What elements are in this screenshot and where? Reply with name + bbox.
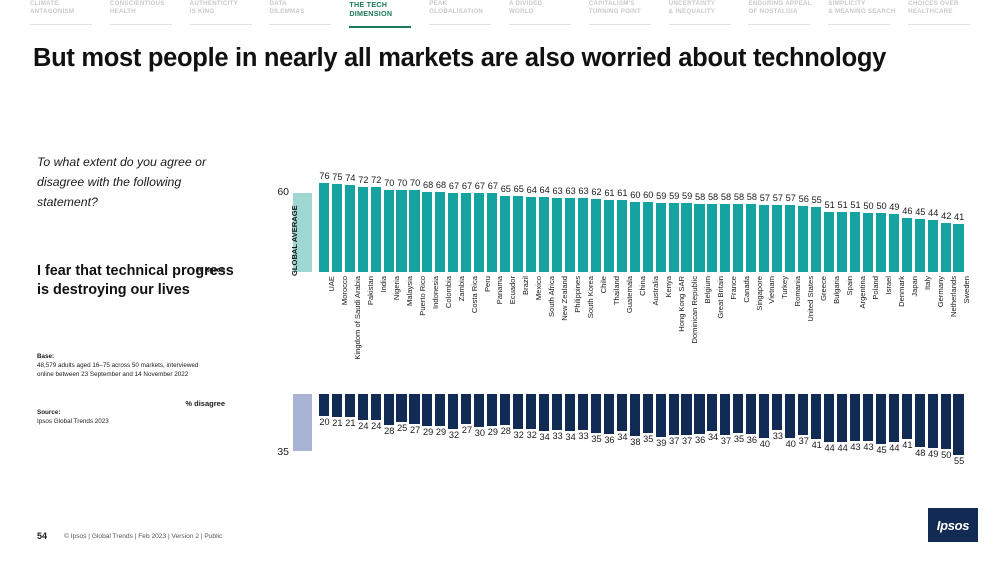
disagree-bar [345, 394, 355, 417]
global-average-disagree-value: 35 [265, 446, 289, 458]
nav-tab-label: UNCERTAINTY & INEQUALITY [669, 0, 741, 17]
disagree-bar [448, 394, 458, 429]
agree-bar [798, 206, 808, 272]
disagree-bar-cell: 34 [538, 394, 551, 460]
agree-bar-value: 50 [876, 201, 886, 212]
agree-bar-value: 42 [941, 211, 951, 222]
nav-tab-underline [110, 24, 172, 26]
disagree-bar-value: 29 [423, 427, 433, 438]
nav-tab-10[interactable]: SIMPLICITY & MEANING SEARCH [828, 0, 908, 34]
disagree-bar-cell: 44 [836, 394, 849, 460]
disagree-bar-cell: 34 [707, 394, 720, 460]
disagree-bar-cell: 34 [616, 394, 629, 460]
footer-text: © Ipsos | Global Trends | Feb 2023 | Ver… [64, 533, 222, 540]
country-axis-cell: UAE [318, 276, 331, 388]
agree-bar [345, 185, 355, 272]
nav-tab-2[interactable]: AUTHENTICITY IS KING [190, 0, 270, 34]
agree-bar-cell: 60 [629, 178, 642, 272]
agree-bar-cell: 42 [940, 178, 953, 272]
disagree-bar-value: 34 [617, 432, 627, 443]
nav-tab-9[interactable]: ENDURING APPEAL OF NOSTALGIA [748, 0, 828, 34]
disagree-bar-cell: 33 [577, 394, 590, 460]
disagree-bar-value: 21 [345, 418, 355, 429]
agree-bar [953, 224, 963, 272]
agree-bar [630, 202, 640, 273]
disagree-bar [552, 394, 562, 430]
disagree-bar-cell: 33 [551, 394, 564, 460]
disagree-bar-cell: 28 [383, 394, 396, 460]
nav-tab-underline [908, 24, 970, 26]
disagree-bar [694, 394, 704, 434]
agree-bar-value: 55 [812, 195, 822, 206]
disagree-bar [772, 394, 782, 430]
agree-bar-cell: 58 [707, 178, 720, 272]
agree-bar-cell: 67 [448, 178, 461, 272]
country-axis-cell: Hong Kong SAR [668, 276, 681, 388]
disagree-bar-cell: 44 [823, 394, 836, 460]
agree-bar-cell: 51 [836, 178, 849, 272]
country-axis-cell: Peru [473, 276, 486, 388]
base-label: Base: [37, 352, 215, 361]
disagree-bar-value: 35 [734, 434, 744, 445]
agree-bar [617, 200, 627, 272]
disagree-bar-cell: 40 [784, 394, 797, 460]
agree-bar-cell: 67 [473, 178, 486, 272]
agree-bar-value: 67 [462, 181, 472, 192]
agree-bar-value: 68 [436, 180, 446, 191]
nav-tab-label: CAPITALISM'S TURNING POINT [589, 0, 661, 17]
agree-bar [487, 193, 497, 272]
agree-bar-cell: 51 [823, 178, 836, 272]
disagree-bar-cell: 37 [797, 394, 810, 460]
agree-bar-cell: 70 [409, 178, 422, 272]
disagree-bar-cell: 25 [396, 394, 409, 460]
disagree-bar [396, 394, 406, 422]
disagree-bar [487, 394, 497, 426]
agree-bar [371, 187, 381, 272]
nav-tab-label: PEAK GLOBALISATION [429, 0, 501, 17]
agree-bar [358, 187, 368, 272]
disagree-bar [630, 394, 640, 436]
agree-bar-cell: 59 [681, 178, 694, 272]
country-axis-cell: New Zealand [551, 276, 564, 388]
country-axis-cell: Mexico [525, 276, 538, 388]
country-axis-cell: Guatemala [616, 276, 629, 388]
agree-bar [733, 204, 743, 272]
country-axis-cell: Brazil [512, 276, 525, 388]
disagree-bar-value: 37 [721, 436, 731, 447]
disagree-bar [513, 394, 523, 429]
agree-bar-value: 68 [423, 180, 433, 191]
agree-bar-cell: 72 [370, 178, 383, 272]
disagree-bar-cell: 43 [849, 394, 862, 460]
agree-bar-value: 74 [345, 173, 355, 184]
country-axis-cell: Australia [642, 276, 655, 388]
agree-bar-value: 46 [902, 206, 912, 217]
agree-bar [552, 198, 562, 272]
country-axis-cell: Panama [486, 276, 499, 388]
agree-bar-cell: 44 [927, 178, 940, 272]
nav-tab-label: CLIMATE ANTAGONISM [30, 0, 102, 17]
disagree-bar-cell: 29 [422, 394, 435, 460]
disagree-bar [319, 394, 329, 416]
country-axis-cell: Denmark [888, 276, 901, 388]
nav-tab-label: CHOICES OVER HEALTHCARE [908, 0, 980, 17]
disagree-bar-cell: 36 [603, 394, 616, 460]
disagree-bar-value: 35 [591, 434, 601, 445]
agree-bar-cell: 57 [771, 178, 784, 272]
disagree-bar-cell: 28 [499, 394, 512, 460]
country-axis-cell: Thailand [603, 276, 616, 388]
global-average-agree-value: 60 [265, 186, 289, 198]
disagree-bar-value: 36 [695, 435, 705, 446]
agree-bar-value: 63 [565, 186, 575, 197]
disagree-bar [358, 394, 368, 420]
agree-bar [759, 205, 769, 272]
nav-tab-label: AUTHENTICITY IS KING [190, 0, 262, 17]
agree-bar-value: 65 [514, 184, 524, 195]
agree-bar-value: 67 [488, 181, 498, 192]
disagree-bar-chart: 2021212424282527292932273029283232343334… [318, 394, 966, 460]
country-axis-cell: Morocco [331, 276, 344, 388]
disagree-bar-cell: 43 [862, 394, 875, 460]
country-axis-cell: France [720, 276, 733, 388]
disagree-bar [422, 394, 432, 426]
disagree-bar-value: 27 [462, 425, 472, 436]
agree-bar [746, 204, 756, 272]
agree-bar [707, 204, 717, 272]
disagree-bar [565, 394, 575, 431]
disagree-bar-value: 24 [371, 421, 381, 432]
disagree-bar-cell: 33 [771, 394, 784, 460]
disagree-bar [746, 394, 756, 434]
disagree-bar [591, 394, 601, 433]
agree-bar-value: 61 [604, 188, 614, 199]
country-axis-cell: Singapore [745, 276, 758, 388]
nav-tab-label: SIMPLICITY & MEANING SEARCH [828, 0, 900, 17]
disagree-bar [539, 394, 549, 431]
agree-bar-value: 67 [475, 181, 485, 192]
country-axis-cell: Netherlands [940, 276, 953, 388]
disagree-bar-value: 32 [527, 430, 537, 441]
base-note: Base: 48,579 adults aged 16–75 across 50… [37, 352, 215, 379]
agree-bar [785, 205, 795, 272]
disagree-bar [669, 394, 679, 435]
agree-bar-cell: 57 [758, 178, 771, 272]
disagree-bar [953, 394, 963, 455]
agree-bar-cell: 65 [512, 178, 525, 272]
agree-bar-cell: 63 [564, 178, 577, 272]
agree-bar-cell: 62 [590, 178, 603, 272]
agree-bar-cell: 68 [422, 178, 435, 272]
disagree-bar [332, 394, 342, 417]
disagree-bar-cell: 35 [590, 394, 603, 460]
disagree-bar [941, 394, 951, 449]
nav-tab-5[interactable]: PEAK GLOBALISATION [429, 0, 509, 34]
country-axis-cell: Spain [836, 276, 849, 388]
logo-text: Ipsos [937, 518, 969, 533]
agree-bar [643, 202, 653, 273]
disagree-bar [643, 394, 653, 433]
country-axis-cell: Bulgaria [823, 276, 836, 388]
agree-bar [902, 218, 912, 272]
country-axis-cell: Ecuador [499, 276, 512, 388]
country-axis-cell: Argentina [849, 276, 862, 388]
agree-bar-value: 57 [760, 193, 770, 204]
disagree-bar [526, 394, 536, 429]
nav-tab-6[interactable]: A DIVIDED WORLD [509, 0, 589, 34]
disagree-bar-value: 37 [799, 436, 809, 447]
disagree-bar-value: 21 [332, 418, 342, 429]
agree-bar-value: 59 [669, 191, 679, 202]
disagree-bar-cell: 35 [733, 394, 746, 460]
agree-bar-value: 58 [747, 192, 757, 203]
disagree-bar-value: 37 [669, 436, 679, 447]
agree-bar-cell: 46 [901, 178, 914, 272]
disagree-bar-cell: 39 [655, 394, 668, 460]
agree-bar-value: 57 [773, 193, 783, 204]
country-axis-cell: Pakistan [357, 276, 370, 388]
agree-bar-cell: 58 [720, 178, 733, 272]
nav-tab-label: CONSCIENTIOUS HEALTH [110, 0, 182, 17]
disagree-bar-value: 24 [358, 421, 368, 432]
country-axis-cell: Zambia [448, 276, 461, 388]
disagree-bar [681, 394, 691, 435]
country-axis-cell: Kenya [655, 276, 668, 388]
nav-tab-underline [349, 26, 411, 28]
disagree-bar-cell: 36 [745, 394, 758, 460]
agree-bar [656, 203, 666, 272]
top-navigation[interactable]: CLIMATE ANTAGONISMCONSCIENTIOUS HEALTHAU… [0, 0, 1000, 34]
disagree-bar-cell: 44 [888, 394, 901, 460]
disagree-bar-value: 55 [954, 456, 964, 467]
agree-bar-cell: 75 [331, 178, 344, 272]
agree-bar [396, 190, 406, 272]
disagree-bar [656, 394, 666, 437]
country-axis-cell: Philippines [564, 276, 577, 388]
disagree-bar-value: 29 [436, 427, 446, 438]
agree-bar-value: 72 [358, 175, 368, 186]
disagree-bar-value: 30 [475, 428, 485, 439]
agree-bar-value: 41 [954, 212, 964, 223]
agree-bar [409, 190, 419, 272]
agree-bar-value: 75 [332, 172, 342, 183]
disagree-bar-value: 40 [760, 439, 770, 450]
disagree-bar-value: 34 [565, 432, 575, 443]
agree-bar [694, 204, 704, 272]
agree-bar [669, 203, 679, 272]
country-axis-cell: China [629, 276, 642, 388]
agree-bar-cell: 74 [344, 178, 357, 272]
agree-bar-value: 49 [889, 202, 899, 213]
disagree-bar-value: 34 [540, 432, 550, 443]
nav-tab-11[interactable]: CHOICES OVER HEALTHCARE [908, 0, 988, 34]
agree-bar [889, 214, 899, 272]
nav-tab-underline [669, 24, 731, 26]
agree-bar-cell: 59 [655, 178, 668, 272]
disagree-bar-cell: 32 [512, 394, 525, 460]
disagree-bar-value: 27 [410, 425, 420, 436]
disagree-bar-value: 40 [786, 439, 796, 450]
disagree-bar-cell: 34 [564, 394, 577, 460]
disagree-bar [474, 394, 484, 427]
agree-bar [928, 220, 938, 272]
disagree-bar-value: 33 [773, 431, 783, 442]
disagree-bar-cell: 30 [473, 394, 486, 460]
disagree-bar [720, 394, 730, 435]
agree-bar-value: 70 [397, 178, 407, 189]
disagree-bar-cell: 29 [435, 394, 448, 460]
agree-bar [681, 203, 691, 272]
disagree-bar-cell: 35 [642, 394, 655, 460]
country-axis-cell: Sweden [953, 276, 966, 388]
disagree-bar-cell: 45 [875, 394, 888, 460]
source-label: Source: [37, 408, 215, 417]
agree-bar-value: 64 [540, 185, 550, 196]
disagree-bar-cell: 21 [331, 394, 344, 460]
agree-bar [876, 213, 886, 272]
country-axis-cell: Nigeria [383, 276, 396, 388]
agree-bar-cell: 72 [357, 178, 370, 272]
disagree-bar-value: 28 [384, 426, 394, 437]
agree-bar-cell: 67 [460, 178, 473, 272]
agree-bar-cell: 61 [616, 178, 629, 272]
disagree-bar [863, 394, 873, 441]
disagree-bar-cell: 27 [409, 394, 422, 460]
nav-tab-underline [589, 24, 651, 26]
country-axis-cell: Puerto Rico [409, 276, 422, 388]
disagree-bar-cell: 49 [927, 394, 940, 460]
disagree-bar-cell: 29 [486, 394, 499, 460]
disagree-bar-value: 45 [876, 445, 886, 456]
agree-bar-value: 61 [617, 188, 627, 199]
agree-bar-value: 60 [643, 190, 653, 201]
page-number: 54 [37, 531, 47, 541]
disagree-bar-cell: 21 [344, 394, 357, 460]
disagree-bar-cell: 20 [318, 394, 331, 460]
disagree-bar [928, 394, 938, 448]
agree-bar-value: 58 [721, 192, 731, 203]
agree-bar [720, 204, 730, 272]
agree-bar-cell: 63 [551, 178, 564, 272]
agree-bar-value: 70 [410, 178, 420, 189]
agree-bar [539, 197, 549, 272]
agree-bar-value: 44 [928, 208, 938, 219]
agree-bar-cell: 61 [603, 178, 616, 272]
agree-bar-value: 59 [682, 191, 692, 202]
disagree-bar-value: 38 [630, 437, 640, 448]
agree-bar-cell: 45 [914, 178, 927, 272]
agree-bar-cell: 58 [745, 178, 758, 272]
disagree-bar-cell: 41 [810, 394, 823, 460]
agree-bar-value: 57 [786, 193, 796, 204]
country-axis-cell: Malaysia [396, 276, 409, 388]
country-axis-cell: Kingdom of Saudi Arabia [344, 276, 357, 388]
nav-tab-0[interactable]: CLIMATE ANTAGONISM [30, 0, 110, 34]
disagree-bar-value: 36 [604, 435, 614, 446]
nav-tab-7[interactable]: CAPITALISM'S TURNING POINT [589, 0, 669, 34]
agree-bar [384, 190, 394, 272]
page-title: But most people in nearly all markets ar… [33, 44, 963, 73]
country-axis-cell: Canada [733, 276, 746, 388]
disagree-bar-value: 41 [902, 440, 912, 451]
agree-bar-value: 63 [578, 186, 588, 197]
nav-tab-8[interactable]: UNCERTAINTY & INEQUALITY [669, 0, 749, 34]
agree-bar-cell: 55 [810, 178, 823, 272]
country-axis-cell: United States [797, 276, 810, 388]
nav-tab-underline [748, 24, 810, 26]
agree-bar-cell: 70 [396, 178, 409, 272]
agree-bar-value: 64 [527, 185, 537, 196]
agree-bar [772, 205, 782, 272]
nav-tab-underline [828, 24, 890, 26]
agree-bar [578, 198, 588, 272]
agree-bar-value: 51 [850, 200, 860, 211]
disagree-bar-cell: 24 [370, 394, 383, 460]
nav-tab-label: ENDURING APPEAL OF NOSTALGIA [748, 0, 820, 17]
country-axis-cell: Japan [901, 276, 914, 388]
agree-bar-cell: 51 [849, 178, 862, 272]
disagree-bar-cell: 37 [720, 394, 733, 460]
nav-tab-underline [30, 24, 92, 26]
disagree-bar [902, 394, 912, 439]
country-axis-cell: Israel [875, 276, 888, 388]
disagree-bar-value: 39 [656, 438, 666, 449]
agree-bar-cell: 64 [538, 178, 551, 272]
agree-bar-value: 58 [695, 192, 705, 203]
disagree-bar-value: 32 [514, 430, 524, 441]
nav-tab-1[interactable]: CONSCIENTIOUS HEALTH [110, 0, 190, 34]
agree-bar-cell: 50 [875, 178, 888, 272]
nav-tab-4[interactable]: THE TECH DIMENSION [349, 0, 429, 34]
disagree-bar-cell: 37 [668, 394, 681, 460]
agree-bar-value: 70 [384, 178, 394, 189]
survey-question: To what extent do you agree or disagree … [37, 152, 242, 212]
disagree-bar-value: 37 [682, 436, 692, 447]
agree-bar-cell: 63 [577, 178, 590, 272]
disagree-bar-cell: 36 [694, 394, 707, 460]
disagree-bar-cell: 48 [914, 394, 927, 460]
country-axis-cell: Dominican Republic [681, 276, 694, 388]
country-axis-cell: Colombia [435, 276, 448, 388]
disagree-bar-value: 50 [941, 450, 951, 461]
country-axis-cell: Belgium [694, 276, 707, 388]
country-axis-cell: Poland [862, 276, 875, 388]
agree-bar [591, 199, 601, 272]
nav-tab-3[interactable]: DATA DILEMMAS [269, 0, 349, 34]
agree-bar-value: 60 [630, 190, 640, 201]
agree-bar-value: 76 [319, 171, 329, 182]
agree-bar-value: 59 [656, 191, 666, 202]
agree-bar-value: 67 [449, 181, 459, 192]
nav-tab-underline [190, 24, 252, 26]
disagree-bar-value: 35 [643, 434, 653, 445]
agree-bar-cell: 65 [499, 178, 512, 272]
legend-agree-label: % agree [155, 265, 225, 274]
agree-bar-value: 50 [863, 201, 873, 212]
agree-bar [824, 212, 834, 272]
agree-bar-value: 62 [591, 187, 601, 198]
disagree-bar [824, 394, 834, 442]
disagree-bar [785, 394, 795, 438]
agree-bar [422, 192, 432, 272]
agree-bar [513, 196, 523, 272]
disagree-bar-cell: 50 [940, 394, 953, 460]
disagree-bar-value: 44 [837, 443, 847, 454]
disagree-bar [435, 394, 445, 426]
agree-bar-cell: 76 [318, 178, 331, 272]
disagree-bar [617, 394, 627, 431]
